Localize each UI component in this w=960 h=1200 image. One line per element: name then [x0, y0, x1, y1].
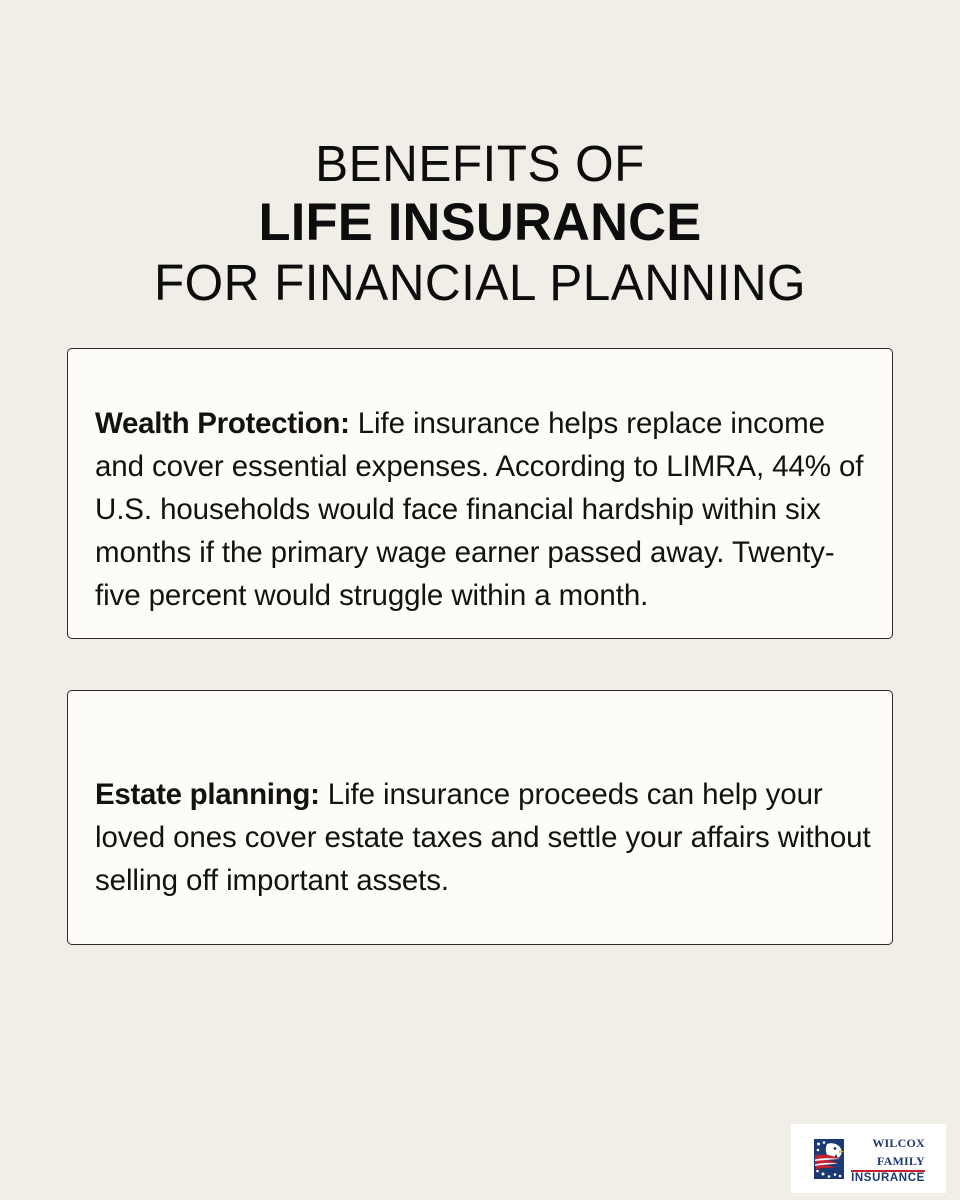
page-title: BENEFITS OF LIFE INSURANCE FOR FINANCIAL… [0, 138, 960, 308]
benefit-card-estate-planning: Estate planning: Life insurance proceeds… [67, 690, 893, 945]
benefit-card-heading: Estate planning: [95, 778, 320, 811]
brand-word-wilcox: Wilcox [872, 1133, 925, 1150]
benefit-card-text: Wealth Protection: Life insurance helps … [95, 402, 872, 617]
title-line-1: BENEFITS OF [14, 138, 945, 189]
american-eagle-flag-emblem-icon [812, 1138, 846, 1180]
title-line-3: FOR FINANCIAL PLANNING [14, 257, 945, 308]
brand-logo-badge: Wilcox Family Insurance [791, 1124, 946, 1193]
title-line-2: LIFE INSURANCE [5, 196, 955, 249]
benefit-card-wealth-protection: Wealth Protection: Life insurance helps … [67, 348, 893, 639]
brand-word-family: Family [877, 1151, 925, 1168]
brand-wordmark: Wilcox Family Insurance [851, 1133, 925, 1185]
brand-word-insurance: Insurance [851, 1173, 925, 1185]
benefit-card-heading: Wealth Protection: [95, 407, 350, 440]
brand-logo: Wilcox Family Insurance [812, 1133, 925, 1185]
benefit-card-text: Estate planning: Life insurance proceeds… [95, 773, 872, 902]
